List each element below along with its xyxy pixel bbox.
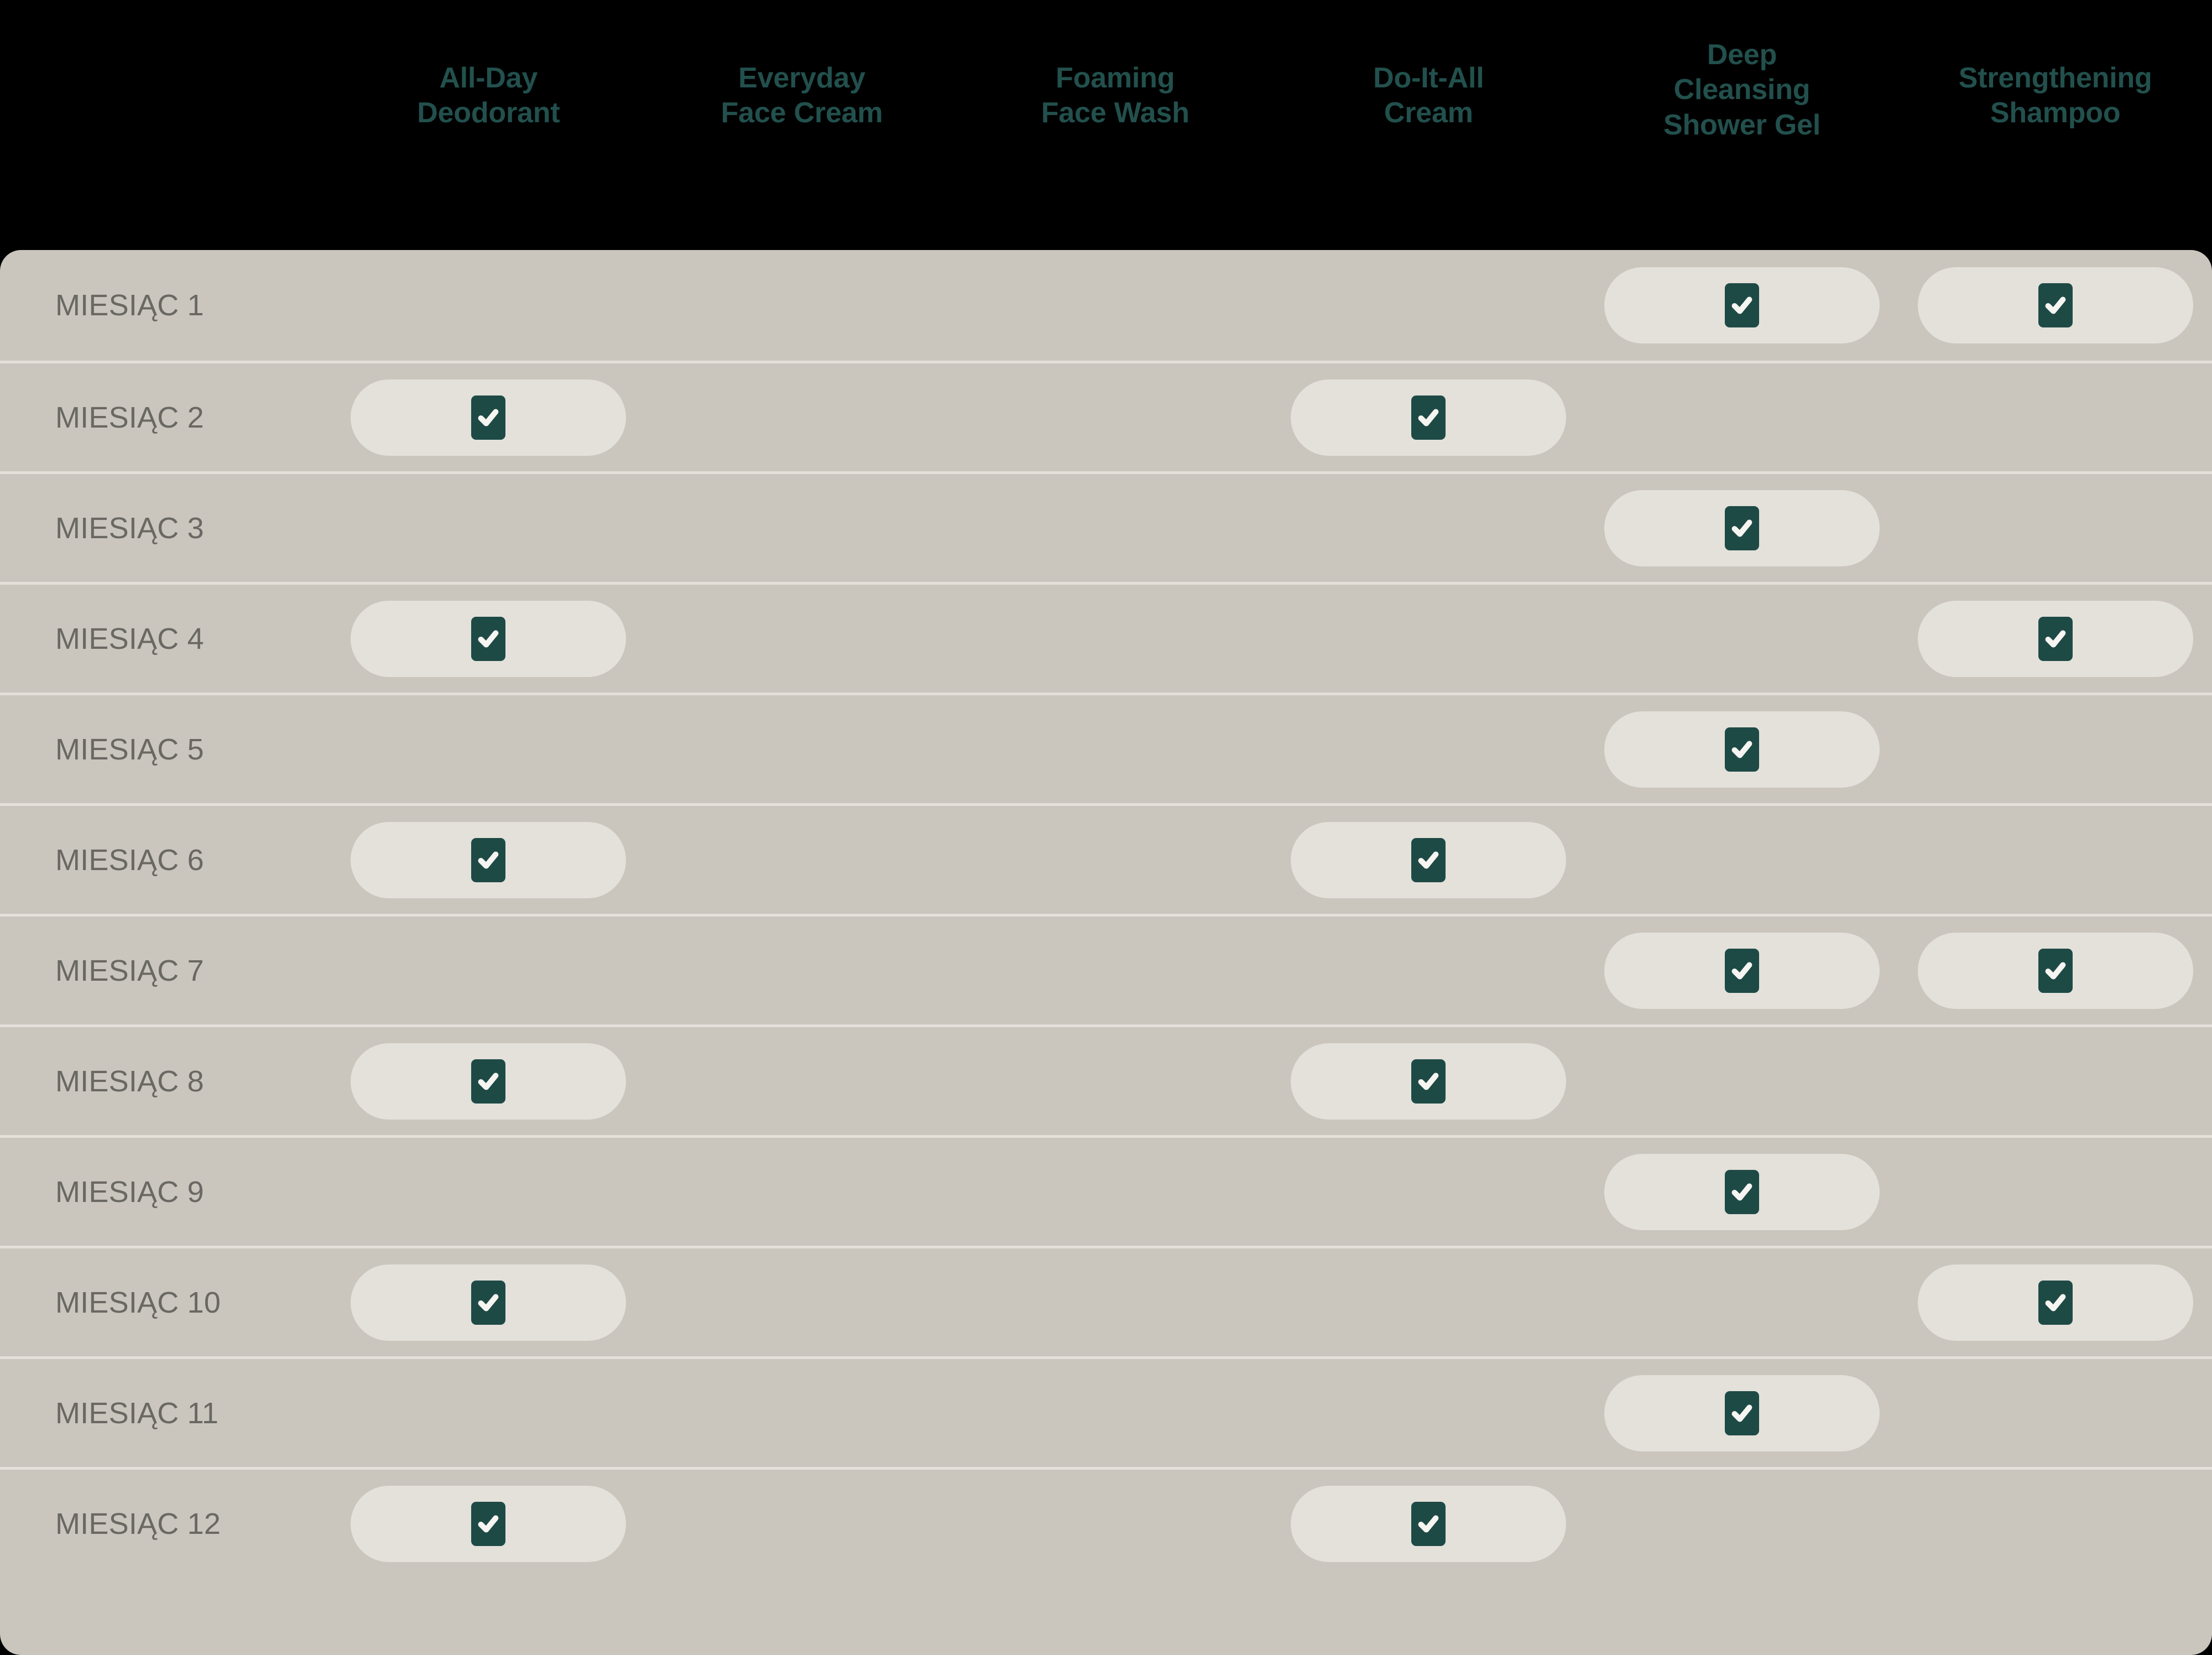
table-row: MIESIĄC 7 — [0, 914, 2212, 1024]
checkbox-pill[interactable] — [351, 1486, 626, 1562]
check-icon[interactable] — [1411, 838, 1446, 882]
cell-strengthening-shampoo — [1898, 1027, 2212, 1135]
cell-do-it-all-cream — [1272, 1248, 1585, 1356]
column-header-label: Deep Cleansing Shower Gel — [1663, 38, 1820, 143]
table-row: MIESIĄC 9 — [0, 1135, 2212, 1246]
row-label-cell: MIESIĄC 4 — [0, 622, 332, 656]
cell-foaming-face-wash — [958, 1138, 1272, 1246]
checkbox-pill[interactable] — [351, 379, 626, 456]
cell-foaming-face-wash — [958, 1027, 1272, 1135]
row-label-cell: MIESIĄC 6 — [0, 843, 332, 877]
cell-everyday-face-cream — [645, 1359, 959, 1467]
row-cells — [332, 250, 2212, 361]
checkbox-pill[interactable] — [1918, 1264, 2193, 1341]
cell-all-day-deodorant — [332, 695, 645, 803]
column-header-deep-cleansing-shower-gel: Deep Cleansing Shower Gel — [1585, 0, 1899, 250]
header-columns: All-Day DeodorantEveryday Face CreamFoam… — [332, 0, 2212, 250]
checkbox-pill[interactable] — [1604, 1154, 1880, 1230]
cell-foaming-face-wash — [958, 1470, 1272, 1578]
cell-do-it-all-cream — [1272, 250, 1585, 361]
table-row: MIESIĄC 1 — [0, 250, 2212, 361]
check-icon[interactable] — [2038, 283, 2073, 327]
cell-deep-cleansing-shower-gel — [1585, 250, 1899, 361]
checkbox-pill[interactable] — [351, 601, 626, 677]
row-label: MIESIĄC 4 — [55, 622, 204, 656]
cell-do-it-all-cream — [1272, 363, 1585, 471]
cell-all-day-deodorant — [332, 250, 645, 361]
cell-everyday-face-cream — [645, 1027, 959, 1135]
cell-deep-cleansing-shower-gel — [1585, 1027, 1899, 1135]
cell-everyday-face-cream — [645, 585, 959, 693]
checkbox-pill[interactable] — [351, 1264, 626, 1341]
row-label: MIESIĄC 3 — [55, 511, 204, 545]
cell-everyday-face-cream — [645, 363, 959, 471]
cell-strengthening-shampoo — [1898, 1248, 2212, 1356]
checkbox-pill[interactable] — [1604, 711, 1880, 788]
row-cells — [332, 363, 2212, 471]
cell-strengthening-shampoo — [1898, 585, 2212, 693]
row-label-cell: MIESIĄC 1 — [0, 288, 332, 322]
row-label: MIESIĄC 11 — [55, 1396, 218, 1430]
table-row: MIESIĄC 3 — [0, 471, 2212, 582]
cell-all-day-deodorant — [332, 917, 645, 1024]
cell-strengthening-shampoo — [1898, 250, 2212, 361]
table-body: MIESIĄC 1MIESIĄC 2MIESIĄC 3MIESIĄC 4MIES… — [0, 250, 2212, 1655]
row-label: MIESIĄC 6 — [55, 843, 204, 877]
cell-do-it-all-cream — [1272, 806, 1585, 914]
row-label-cell: MIESIĄC 2 — [0, 400, 332, 435]
row-label: MIESIĄC 1 — [55, 288, 204, 322]
cell-do-it-all-cream — [1272, 695, 1585, 803]
row-label: MIESIĄC 10 — [55, 1286, 221, 1320]
check-icon[interactable] — [1725, 1170, 1759, 1214]
cell-everyday-face-cream — [645, 1470, 959, 1578]
check-icon[interactable] — [2038, 617, 2073, 661]
product-routine-matrix: All-Day DeodorantEveryday Face CreamFoam… — [0, 0, 2212, 1655]
row-label-cell: MIESIĄC 10 — [0, 1286, 332, 1320]
cell-everyday-face-cream — [645, 1248, 959, 1356]
column-header-label: Foaming Face Wash — [1041, 61, 1190, 131]
column-header-everyday-face-cream: Everyday Face Cream — [645, 0, 959, 250]
cell-foaming-face-wash — [958, 1248, 1272, 1356]
checkbox-pill[interactable] — [1604, 267, 1880, 344]
checkbox-pill[interactable] — [351, 822, 626, 898]
cell-all-day-deodorant — [332, 363, 645, 471]
row-label: MIESIĄC 7 — [55, 954, 204, 988]
cell-everyday-face-cream — [645, 250, 959, 361]
cell-everyday-face-cream — [645, 695, 959, 803]
check-icon[interactable] — [1725, 727, 1759, 772]
row-cells — [332, 1359, 2212, 1467]
row-label-cell: MIESIĄC 11 — [0, 1396, 332, 1430]
column-header-label: Strengthening Shampoo — [1959, 61, 2152, 131]
row-cells — [332, 1138, 2212, 1246]
row-cells — [332, 474, 2212, 582]
row-label-cell: MIESIĄC 9 — [0, 1175, 332, 1209]
cell-foaming-face-wash — [958, 250, 1272, 361]
cell-foaming-face-wash — [958, 917, 1272, 1024]
cell-all-day-deodorant — [332, 585, 645, 693]
check-icon[interactable] — [2038, 1281, 2073, 1325]
cell-do-it-all-cream — [1272, 1138, 1585, 1246]
table-row: MIESIĄC 4 — [0, 582, 2212, 693]
checkbox-pill[interactable] — [1918, 267, 2193, 344]
row-label: MIESIĄC 5 — [55, 732, 204, 767]
cell-do-it-all-cream — [1272, 1359, 1585, 1467]
cell-strengthening-shampoo — [1898, 917, 2212, 1024]
check-icon[interactable] — [1411, 395, 1446, 440]
row-label-cell: MIESIĄC 3 — [0, 511, 332, 545]
cell-all-day-deodorant — [332, 1359, 645, 1467]
cell-deep-cleansing-shower-gel — [1585, 1138, 1899, 1246]
cell-do-it-all-cream — [1272, 917, 1585, 1024]
cell-everyday-face-cream — [645, 474, 959, 582]
row-cells — [332, 1248, 2212, 1356]
check-icon[interactable] — [471, 1281, 505, 1325]
row-label: MIESIĄC 12 — [55, 1507, 221, 1541]
checkbox-pill[interactable] — [1604, 490, 1880, 566]
check-icon[interactable] — [1725, 283, 1759, 327]
row-cells — [332, 695, 2212, 803]
cell-everyday-face-cream — [645, 917, 959, 1024]
cell-deep-cleansing-shower-gel — [1585, 1470, 1899, 1578]
table-row: MIESIĄC 8 — [0, 1024, 2212, 1135]
column-header-all-day-deodorant: All-Day Deodorant — [332, 0, 645, 250]
cell-deep-cleansing-shower-gel — [1585, 474, 1899, 582]
cell-all-day-deodorant — [332, 1248, 645, 1356]
cell-strengthening-shampoo — [1898, 1359, 2212, 1467]
column-header-do-it-all-cream: Do-It-All Cream — [1272, 0, 1585, 250]
cell-foaming-face-wash — [958, 695, 1272, 803]
checkbox-pill[interactable] — [1291, 822, 1566, 898]
checkbox-pill[interactable] — [1604, 933, 1880, 1009]
cell-foaming-face-wash — [958, 474, 1272, 582]
cell-deep-cleansing-shower-gel — [1585, 585, 1899, 693]
row-cells — [332, 1470, 2212, 1578]
table-row: MIESIĄC 10 — [0, 1246, 2212, 1356]
check-icon[interactable] — [471, 1502, 505, 1546]
check-icon[interactable] — [471, 1059, 505, 1104]
cell-foaming-face-wash — [958, 585, 1272, 693]
table-row: MIESIĄC 12 — [0, 1467, 2212, 1578]
column-header-foaming-face-wash: Foaming Face Wash — [958, 0, 1272, 250]
column-header-label: Do-It-All Cream — [1373, 61, 1484, 131]
checkbox-pill[interactable] — [1291, 379, 1566, 456]
cell-all-day-deodorant — [332, 1027, 645, 1135]
cell-strengthening-shampoo — [1898, 1138, 2212, 1246]
cell-everyday-face-cream — [645, 806, 959, 914]
cell-do-it-all-cream — [1272, 585, 1585, 693]
check-icon[interactable] — [471, 838, 505, 882]
cell-strengthening-shampoo — [1898, 1470, 2212, 1578]
check-icon[interactable] — [471, 395, 505, 440]
cell-all-day-deodorant — [332, 1470, 645, 1578]
check-icon[interactable] — [2038, 949, 2073, 993]
cell-deep-cleansing-shower-gel — [1585, 1359, 1899, 1467]
row-cells — [332, 1027, 2212, 1135]
cell-deep-cleansing-shower-gel — [1585, 1248, 1899, 1356]
cell-all-day-deodorant — [332, 1138, 645, 1246]
checkbox-pill[interactable] — [1918, 933, 2193, 1009]
cell-all-day-deodorant — [332, 806, 645, 914]
checkbox-pill[interactable] — [351, 1043, 626, 1120]
table-row: MIESIĄC 5 — [0, 693, 2212, 803]
cell-deep-cleansing-shower-gel — [1585, 695, 1899, 803]
check-icon[interactable] — [1725, 1391, 1759, 1435]
cell-deep-cleansing-shower-gel — [1585, 363, 1899, 471]
row-label: MIESIĄC 8 — [55, 1064, 204, 1099]
table-row: MIESIĄC 11 — [0, 1356, 2212, 1467]
check-icon[interactable] — [1725, 506, 1759, 550]
cell-deep-cleansing-shower-gel — [1585, 917, 1899, 1024]
cell-strengthening-shampoo — [1898, 474, 2212, 582]
row-cells — [332, 806, 2212, 914]
checkbox-pill[interactable] — [1291, 1043, 1566, 1120]
cell-deep-cleansing-shower-gel — [1585, 806, 1899, 914]
checkbox-pill[interactable] — [1918, 601, 2193, 677]
cell-foaming-face-wash — [958, 1359, 1272, 1467]
cell-do-it-all-cream — [1272, 1027, 1585, 1135]
cell-foaming-face-wash — [958, 363, 1272, 471]
row-cells — [332, 917, 2212, 1024]
row-label-cell: MIESIĄC 12 — [0, 1507, 332, 1541]
check-icon[interactable] — [1411, 1059, 1446, 1104]
checkbox-pill[interactable] — [1291, 1486, 1566, 1562]
cell-strengthening-shampoo — [1898, 806, 2212, 914]
cell-all-day-deodorant — [332, 474, 645, 582]
table-row: MIESIĄC 2 — [0, 361, 2212, 471]
column-header-label: All-Day Deodorant — [417, 61, 560, 131]
row-cells — [332, 585, 2212, 693]
column-header-strengthening-shampoo: Strengthening Shampoo — [1898, 0, 2212, 250]
checkbox-pill[interactable] — [1604, 1375, 1880, 1451]
cell-strengthening-shampoo — [1898, 695, 2212, 803]
check-icon[interactable] — [1725, 949, 1759, 993]
row-label-cell: MIESIĄC 7 — [0, 954, 332, 988]
check-icon[interactable] — [1411, 1502, 1446, 1546]
cell-do-it-all-cream — [1272, 1470, 1585, 1578]
table-row: MIESIĄC 6 — [0, 803, 2212, 914]
cell-foaming-face-wash — [958, 806, 1272, 914]
row-label: MIESIĄC 2 — [55, 400, 204, 435]
cell-strengthening-shampoo — [1898, 363, 2212, 471]
row-label: MIESIĄC 9 — [55, 1175, 204, 1209]
row-label-cell: MIESIĄC 5 — [0, 732, 332, 767]
column-header-label: Everyday Face Cream — [721, 61, 883, 131]
row-label-cell: MIESIĄC 8 — [0, 1064, 332, 1099]
cell-everyday-face-cream — [645, 1138, 959, 1246]
check-icon[interactable] — [471, 617, 505, 661]
cell-do-it-all-cream — [1272, 474, 1585, 582]
table-header-row: All-Day DeodorantEveryday Face CreamFoam… — [0, 0, 2212, 250]
